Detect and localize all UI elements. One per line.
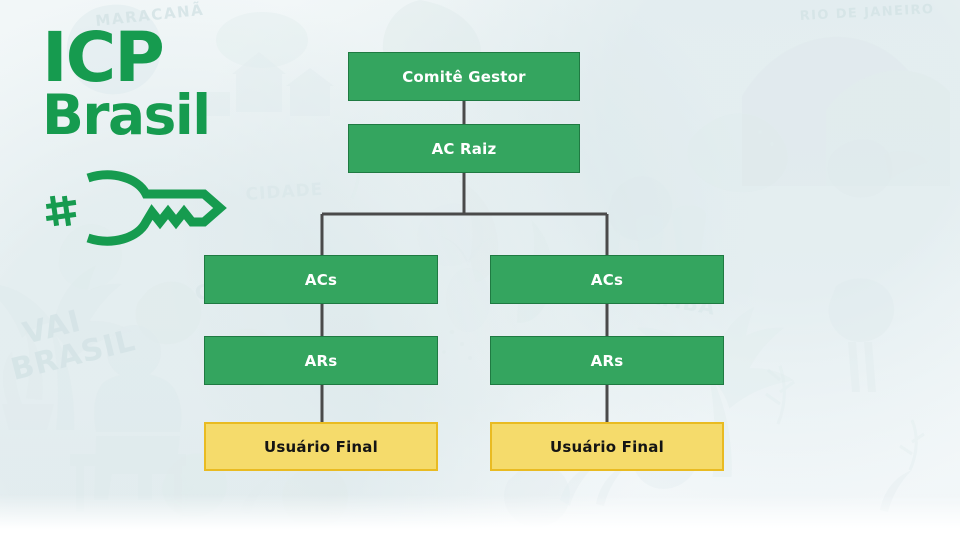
node-usuario-final-right[interactable]: Usuário Final [490,422,724,471]
icp-brasil-logo: ICP Brasil [42,28,242,243]
bg-word-vai: VAI [19,304,84,352]
node-acs-left[interactable]: ACs [204,255,438,304]
node-ars-right[interactable]: ARs [490,336,724,385]
node-usuario-final-left[interactable]: Usuário Final [204,422,438,471]
background-bottom-fade [0,494,960,540]
bg-word-rio: RIO DE JANEIRO [799,2,934,24]
bg-word-cidade: CIDADE [245,180,324,205]
node-ac-raiz[interactable]: AC Raiz [348,124,580,173]
node-comite-gestor[interactable]: Comitê Gestor [348,52,580,101]
bg-word-brasil: BRASIL [7,323,139,388]
slide-canvas: MARACANÃ RIO DE JANEIRO VAI BRASIL CARNA… [0,0,960,540]
key-icon [42,168,242,248]
logo-text-icp: ICP [42,28,242,89]
node-acs-right[interactable]: ACs [490,255,724,304]
node-ars-left[interactable]: ARs [204,336,438,385]
logo-text-brasil: Brasil [42,91,242,139]
